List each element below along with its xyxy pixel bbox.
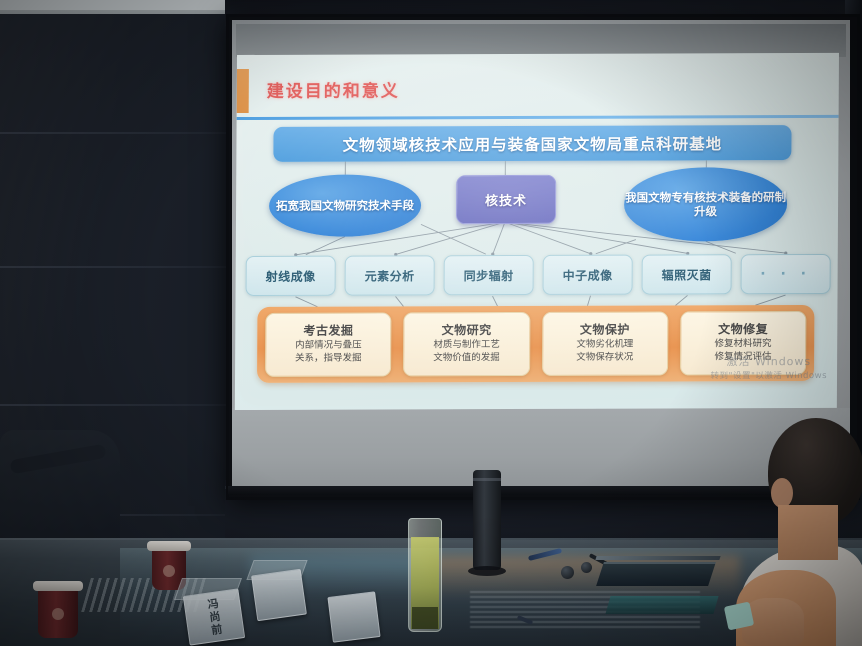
slide-header-label: 文物领域核技术应用与装备国家文物局重点科研基地: [343, 132, 723, 155]
application-heading: 文物保护: [580, 323, 630, 339]
cup-lid: [147, 541, 191, 551]
application-line2: 文物价值的发掘: [433, 352, 500, 365]
title-accent-bar: [237, 69, 249, 113]
node-right-ellipse: 我国文物专有核技术装备的研制升级: [624, 167, 787, 242]
technology-row: 射线成像 元素分析 同步辐射 中子成像 辐照灭菌 · · ·: [246, 253, 831, 297]
cup-logo: [52, 608, 64, 620]
application-card: 文物修复 修复材料研究 修复情况评估: [680, 311, 807, 375]
name-plate: 冯尚前: [183, 588, 245, 645]
person-neck: [778, 505, 838, 560]
name-plate-text: 冯尚前: [203, 597, 224, 638]
node-left-ellipse: 拓宽我国文物研究技术手段: [269, 174, 421, 237]
applications-row: 考古发掘 内部情况与叠压 关系，指导发掘 文物研究 材质与制作工艺 文物价值的发…: [265, 310, 806, 378]
application-card: 文物研究 材质与制作工艺 文物价值的发掘: [403, 312, 530, 376]
technology-label: 中子成像: [563, 266, 613, 283]
popup-monitor: [596, 562, 716, 586]
application-line1: 内部情况与叠压: [295, 340, 362, 353]
technology-tag: 中子成像: [543, 255, 633, 295]
conference-room-scene: 建设目的和意义 文物领域核技术应用与装备国家文物局重点科研基地: [0, 0, 862, 646]
node-left-label: 拓宽我国文物研究技术手段: [276, 198, 414, 213]
ceiling-edge: [0, 0, 250, 10]
application-line2: 修复情况评估: [714, 351, 771, 364]
name-plate: [251, 569, 307, 622]
technology-label: 同步辐射: [464, 267, 514, 284]
application-heading: 考古发掘: [303, 324, 353, 340]
application-line2: 文物保存状况: [576, 351, 633, 364]
node-core: 核技术: [456, 175, 556, 224]
technology-label: · · ·: [760, 266, 811, 282]
application-line1: 材质与制作工艺: [433, 339, 500, 352]
name-plate: [327, 591, 380, 643]
technology-tag: 射线成像: [246, 256, 336, 296]
application-heading: 文物修复: [718, 323, 768, 339]
node-core-label: 核技术: [485, 190, 527, 209]
screen-bottom-bar: [228, 486, 854, 495]
screen-blank-area: [232, 408, 850, 490]
cup-logo: [163, 565, 175, 577]
cup-lid: [33, 581, 83, 591]
application-line1: 文物劣化机理: [576, 339, 633, 352]
person-ear: [771, 478, 793, 508]
technology-tag: 同步辐射: [444, 255, 534, 295]
thermos-base: [468, 566, 506, 576]
cable-connector: [581, 562, 592, 573]
technology-label: 射线成像: [266, 267, 316, 284]
application-card: 考古发掘 内部情况与叠压 关系，指导发掘: [265, 312, 392, 376]
technology-tag-ellipsis: · · ·: [741, 254, 831, 294]
presentation-slide: 建设目的和意义 文物领域核技术应用与装备国家文物局重点科研基地: [235, 53, 839, 410]
application-line2: 关系，指导发掘: [295, 352, 362, 365]
cable-connector: [561, 566, 574, 579]
paper-cup: [38, 588, 78, 638]
slide-title: 建设目的和意义: [267, 76, 400, 101]
technology-label: 元素分析: [365, 267, 415, 284]
monitor-reflection: [605, 596, 718, 614]
glass-tea-tumbler: [408, 518, 442, 632]
monitor-rail: [595, 556, 720, 560]
application-card: 文物保护 文物劣化机理 文物保存状况: [542, 311, 669, 375]
technology-tag: 辐照灭菌: [642, 254, 732, 294]
screen-top-strip: [236, 24, 846, 57]
technology-tag: 元素分析: [345, 255, 435, 295]
node-right-label: 我国文物专有核技术装备的研制升级: [624, 190, 787, 219]
tea-leaves: [412, 607, 438, 629]
application-line1: 修复材料研究: [715, 338, 772, 351]
application-heading: 文物研究: [442, 324, 492, 340]
slide-header-node: 文物领域核技术应用与装备国家文物局重点科研基地: [273, 125, 791, 162]
technology-label: 辐照灭菌: [662, 266, 712, 283]
title-divider: [237, 115, 839, 120]
thermos-flask: [473, 470, 501, 570]
